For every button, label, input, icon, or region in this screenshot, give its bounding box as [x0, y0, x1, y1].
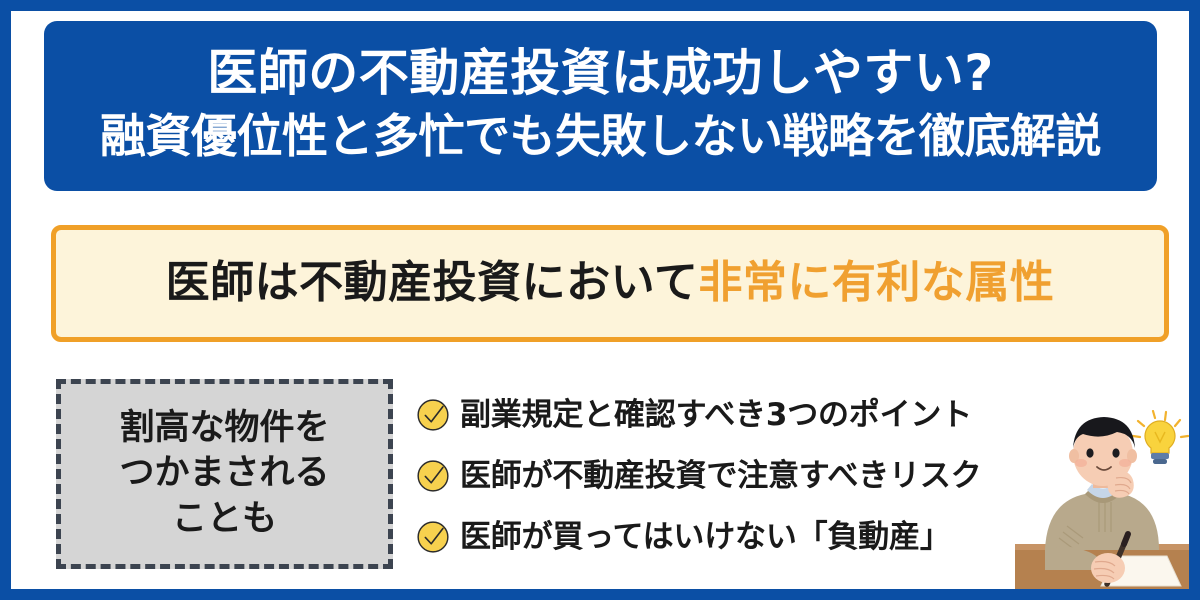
header-title-line1: 医師の不動産投資は成功しやすい? [207, 44, 994, 103]
header-title-line2: 融資優位性と多忙でも失敗しない戦略を徹底解説 [100, 109, 1101, 163]
ear-right [1127, 449, 1137, 463]
bullet-item-2: 医師が不動産投資で注意すべきリスク [415, 446, 1115, 506]
infographic-canvas: 医師の不動産投資は成功しやすい? 融資優位性と多忙でも失敗しない戦略を徹底解説 … [11, 11, 1189, 589]
bullet-item-3: 医師が買ってはいけない「負動産」 [415, 507, 1115, 567]
check-circle-icon [415, 458, 451, 494]
subtitle-text: 医師は不動産投資において非常に有利な属性 [166, 259, 1055, 307]
subtitle-accent-text: 非常に有利な属性 [698, 257, 1054, 308]
bullet-label-3: 医師が買ってはいけない「負動産」 [460, 520, 951, 554]
callout-box: 割高な物件を つかまされる ことも [56, 379, 393, 569]
callout-line-1: 割高な物件を [119, 406, 329, 452]
check-circle-icon [415, 519, 451, 555]
header-banner: 医師の不動産投資は成功しやすい? 融資優位性と多忙でも失敗しない戦略を徹底解説 [44, 21, 1157, 191]
lightbulb-rays-icon [1133, 411, 1188, 437]
bullet-list: 副業規定と確認すべき3つのポイント 医師が不動産投資で注意すべきリスク 医師が買… [415, 385, 1115, 568]
bullet-item-1: 副業規定と確認すべき3つのポイント [415, 385, 1115, 445]
infographic-frame: 医師の不動産投資は成功しやすい? 融資優位性と多忙でも失敗しない戦略を徹底解説 … [0, 0, 1200, 600]
callout-line-3: ことも [172, 497, 277, 543]
lightbulb-icon [1145, 421, 1175, 464]
check-circle-icon [415, 397, 451, 433]
subtitle-banner: 医師は不動産投資において非常に有利な属性 [51, 225, 1169, 342]
bullet-label-2: 医師が不動産投資で注意すべきリスク [460, 459, 981, 493]
callout-line-2: つかまされる [119, 451, 329, 497]
cheek-right [1119, 459, 1131, 467]
subtitle-plain-text: 医師は不動産投資において [166, 257, 699, 308]
bullet-label-1: 副業規定と確認すべき3つのポイント [460, 398, 972, 432]
